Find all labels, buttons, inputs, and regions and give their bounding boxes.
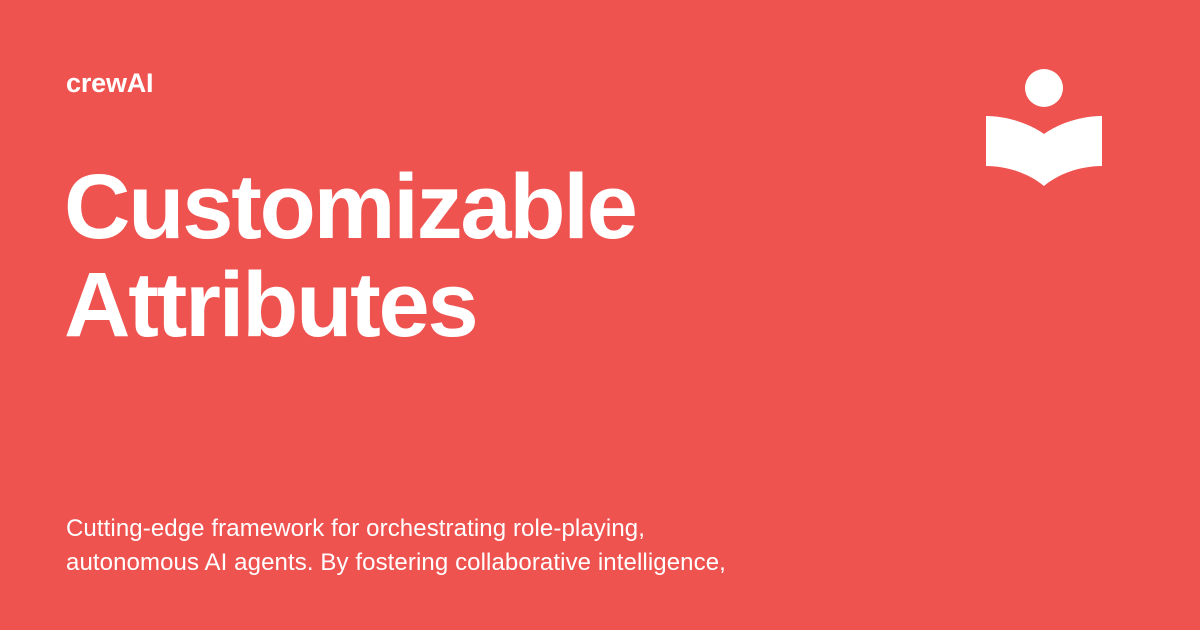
og-social-card: crewAI Customizable Attributes Cutting-e… <box>0 0 1200 630</box>
description-line-2: autonomous AI agents. By fostering colla… <box>66 546 866 580</box>
description-line-1: Cutting-edge framework for orchestrating… <box>66 512 866 546</box>
page-title: Customizable Attributes <box>64 158 864 354</box>
open-book-reader-icon <box>986 64 1102 188</box>
brand-logo-text: crewAI <box>66 70 153 97</box>
page-description: Cutting-edge framework for orchestrating… <box>66 512 866 580</box>
